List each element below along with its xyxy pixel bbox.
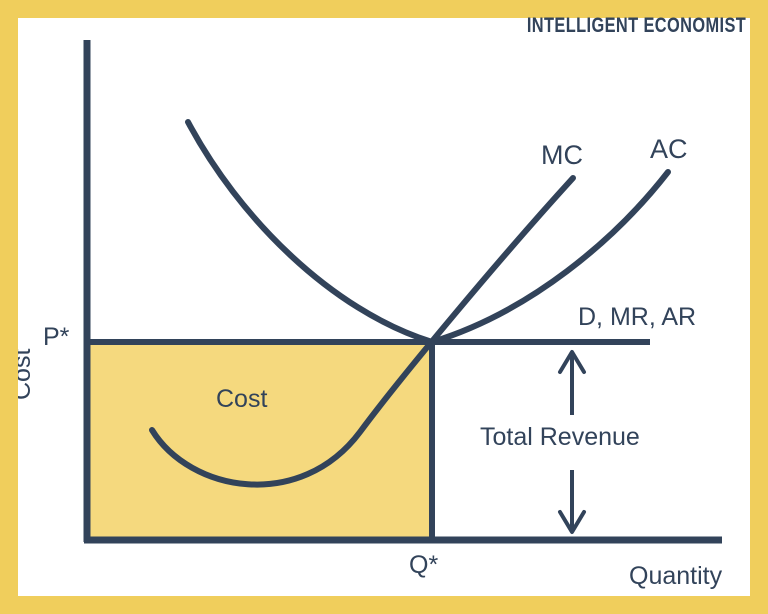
x-axis-label: Quantity [629, 562, 722, 591]
price-axis-tick-label: P* [43, 323, 69, 352]
diagram-canvas: INTELLIGENT ECONOMIST MC AC D, MR, AR To… [0, 0, 768, 614]
total-revenue-label: Total Revenue [480, 423, 640, 452]
average-cost-label: AC [650, 134, 688, 165]
marginal-cost-label: MC [541, 140, 583, 171]
cost-area-label: Cost [216, 385, 267, 414]
cost-area-fill [85, 342, 432, 540]
demand-curve-label: D, MR, AR [578, 303, 696, 332]
quantity-axis-tick-label: Q* [409, 551, 438, 580]
brand-watermark: INTELLIGENT ECONOMIST [527, 14, 746, 38]
y-axis-label: Cost [8, 349, 37, 400]
